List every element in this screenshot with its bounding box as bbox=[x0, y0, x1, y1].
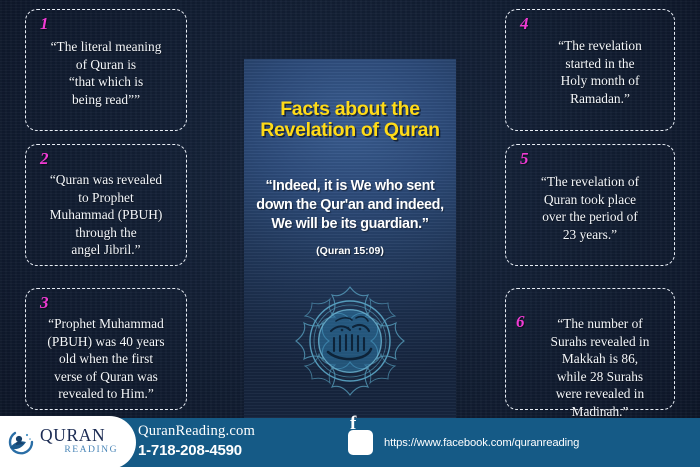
page-title: Facts about the Revelation of Quran bbox=[244, 99, 456, 141]
fact-line: of Quran is bbox=[30, 56, 182, 74]
verse-line-1: “Indeed, it is We who sent bbox=[249, 177, 451, 196]
site-contact-block: QuranReading.com 1-718-208-4590 bbox=[138, 422, 318, 461]
fact-line: Quran took place bbox=[510, 191, 670, 209]
fact-box-5: 5 “The revelation of Quran took place ov… bbox=[505, 144, 675, 266]
fact-text-5: “The revelation of Quran took place over… bbox=[510, 173, 670, 243]
fact-line: through the bbox=[30, 224, 182, 242]
fact-line: “Prophet Muhammad bbox=[30, 315, 182, 333]
fact-line: “Quran was revealed bbox=[30, 171, 182, 189]
facebook-url[interactable]: https://www.facebook.com/quranreading bbox=[384, 437, 579, 449]
fact-line: Ramadan.” bbox=[528, 90, 672, 108]
fact-line: “The literal meaning bbox=[30, 38, 182, 56]
site-name[interactable]: QuranReading.com bbox=[138, 422, 318, 441]
fact-number-4: 4 bbox=[520, 15, 529, 32]
fact-line: (PBUH) was 40 years bbox=[30, 333, 182, 351]
fact-box-6: 6 “The number of Surahs revealed in Makk… bbox=[505, 288, 675, 410]
fact-text-4: “The revelation started in the Holy mont… bbox=[528, 37, 672, 107]
fact-line: while 28 Surahs bbox=[528, 368, 672, 386]
infographic-poster: Facts about the Revelation of Quran “Ind… bbox=[0, 0, 700, 467]
quran-reading-logo-icon bbox=[6, 427, 36, 457]
phone-number[interactable]: 1-718-208-4590 bbox=[138, 441, 318, 461]
fact-line: Holy month of bbox=[528, 72, 672, 90]
verse-line-3: We will be its guardian.” bbox=[249, 215, 451, 234]
fact-text-2: “Quran was revealed to Prophet Muhammad … bbox=[30, 171, 182, 259]
fact-box-3: 3 “Prophet Muhammad (PBUH) was 40 years … bbox=[25, 288, 187, 410]
fact-box-4: 4 “The revelation started in the Holy mo… bbox=[505, 9, 675, 131]
fact-line: “The revelation bbox=[528, 37, 672, 55]
fact-line: revealed to Him.” bbox=[30, 385, 182, 403]
fact-line: “that which is bbox=[30, 73, 182, 91]
fact-line: verse of Quran was bbox=[30, 368, 182, 386]
fact-text-3: “Prophet Muhammad (PBUH) was 40 years ol… bbox=[30, 315, 182, 403]
fact-line: were revealed in bbox=[528, 385, 672, 403]
fact-line: “The number of bbox=[528, 315, 672, 333]
fact-line: over the period of bbox=[510, 208, 670, 226]
title-line-2: Revelation of Quran bbox=[250, 120, 450, 141]
fact-line: 23 years.” bbox=[510, 226, 670, 244]
fact-box-2: 2 “Quran was revealed to Prophet Muhamma… bbox=[25, 144, 187, 266]
footer-bar: QURAN READING QuranReading.com 1-718-208… bbox=[0, 418, 700, 467]
fact-text-1: “The literal meaning of Quran is “that w… bbox=[30, 38, 182, 108]
verse-line-2: down the Qur'an and indeed, bbox=[249, 196, 451, 215]
fact-number-1: 1 bbox=[40, 15, 49, 32]
fact-line: started in the bbox=[528, 55, 672, 73]
logo-wordmark: QURAN READING bbox=[40, 427, 120, 455]
fact-line: “The revelation of bbox=[510, 173, 670, 191]
fact-line: being read”” bbox=[30, 91, 182, 109]
fact-box-1: 1 “The literal meaning of Quran is “that… bbox=[25, 9, 187, 131]
fact-text-6: “The number of Surahs revealed in Makkah… bbox=[528, 315, 672, 420]
fact-line: to Prophet bbox=[30, 189, 182, 207]
fact-line: angel Jibril.” bbox=[30, 241, 182, 259]
facebook-link[interactable]: f https://www.facebook.com/quranreading bbox=[348, 430, 579, 455]
title-line-1: Facts about the bbox=[250, 99, 450, 120]
fact-number-5: 5 bbox=[520, 150, 529, 167]
center-panel: Facts about the Revelation of Quran “Ind… bbox=[244, 59, 456, 418]
verse-quote: “Indeed, it is We who sent down the Qur'… bbox=[244, 177, 456, 234]
logo-primary-text: QURAN bbox=[40, 427, 120, 444]
fact-line: old when the first bbox=[30, 350, 182, 368]
fact-number-3: 3 bbox=[40, 294, 49, 311]
logo-plate: QURAN READING bbox=[0, 416, 136, 467]
fact-line: Makkah is 86, bbox=[528, 350, 672, 368]
logo-secondary-text: READING bbox=[40, 444, 120, 455]
fact-number-6: 6 bbox=[516, 313, 525, 330]
fact-line: Muhammad (PBUH) bbox=[30, 206, 182, 224]
fact-number-2: 2 bbox=[40, 150, 49, 167]
verse-reference: (Quran 15:09) bbox=[244, 245, 456, 257]
quran-kareem-calligraphy-emblem bbox=[290, 281, 410, 401]
facebook-icon[interactable]: f bbox=[348, 430, 373, 455]
fact-line: Surahs revealed in bbox=[528, 333, 672, 351]
